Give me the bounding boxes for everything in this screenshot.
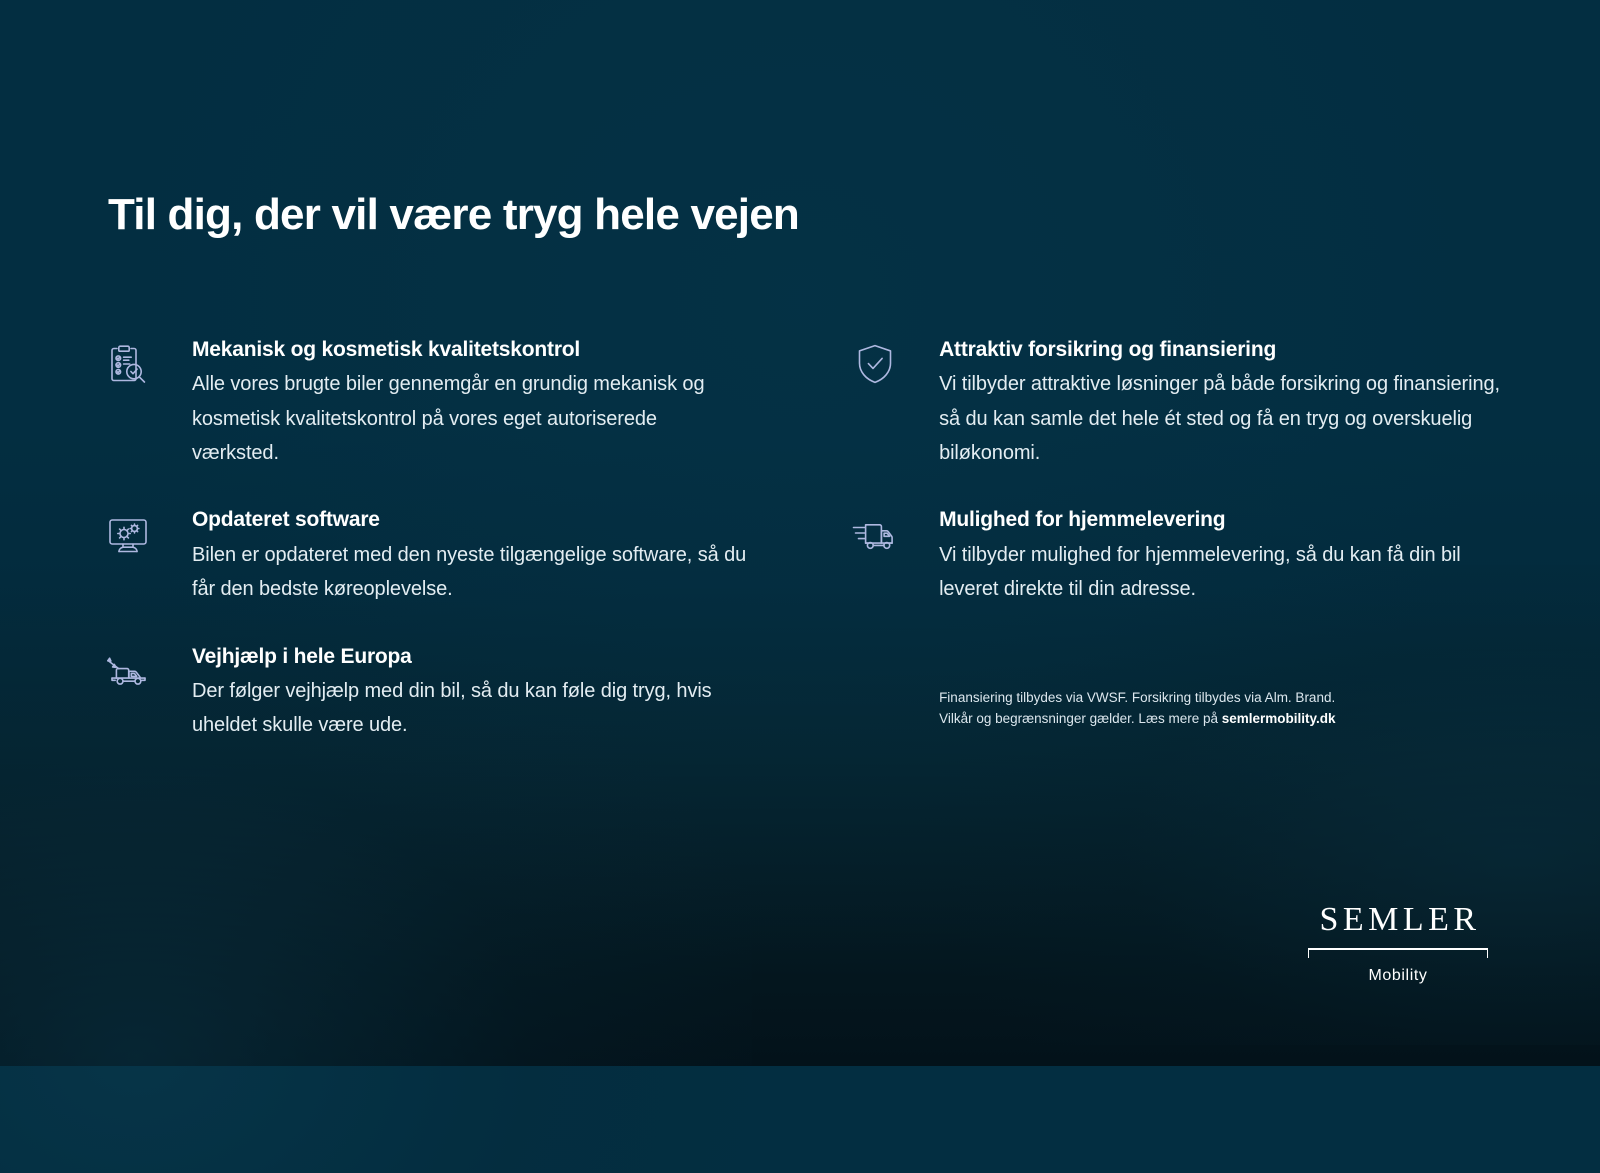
feature-title: Opdateret software	[192, 506, 749, 533]
legal-line-2: Vilkår og begrænsninger gælder. Læs mere…	[939, 708, 1508, 730]
feature-body: Vejhjælp i hele Europa Der følger vejhjæ…	[192, 643, 749, 743]
feature-item-quality-control: Mekanisk og kosmetisk kvalitetskontrol A…	[96, 336, 749, 470]
feature-title: Mekanisk og kosmetisk kvalitetskontrol	[192, 336, 749, 363]
feature-title: Mulighed for hjemmelevering	[939, 506, 1508, 533]
feature-item-software: Opdateret software Bilen er opdateret me…	[96, 506, 749, 606]
logo-wordmark: SEMLER	[1308, 903, 1488, 937]
feature-body: Opdateret software Bilen er opdateret me…	[192, 506, 749, 606]
legal-disclaimer: Finansiering tilbydes via VWSF. Forsikri…	[843, 687, 1508, 731]
feature-item-insurance-financing: Attraktiv forsikring og finansiering Vi …	[843, 336, 1508, 470]
logo-subtitle: Mobility	[1308, 968, 1488, 984]
logo-divider-rule	[1308, 948, 1488, 959]
feature-description: Vi tilbyder mulighed for hjemmelevering,…	[939, 538, 1508, 607]
feature-item-home-delivery: Mulighed for hjemmelevering Vi tilbyder …	[843, 506, 1508, 606]
feature-body: Attraktiv forsikring og finansiering Vi …	[939, 336, 1508, 470]
monitor-gears-icon	[96, 506, 192, 558]
feature-columns: Mekanisk og kosmetisk kvalitetskontrol A…	[96, 336, 1508, 743]
feature-description: Bilen er opdateret med den nyeste tilgæn…	[192, 538, 749, 607]
legal-line-1: Finansiering tilbydes via VWSF. Forsikri…	[939, 687, 1508, 709]
clipboard-checklist-magnifier-icon	[96, 336, 192, 388]
feature-item-roadside-assistance: Vejhjælp i hele Europa Der følger vejhjæ…	[96, 643, 749, 743]
feature-column-left: Mekanisk og kosmetisk kvalitetskontrol A…	[96, 336, 749, 743]
tow-truck-icon	[96, 643, 192, 695]
shield-check-icon	[843, 336, 939, 388]
feature-description: Vi tilbyder attraktive løsninger på både…	[939, 367, 1508, 470]
feature-body: Mulighed for hjemmelevering Vi tilbyder …	[939, 506, 1508, 606]
legal-line-2-prefix: Vilkår og begrænsninger gælder. Læs mere…	[939, 711, 1222, 726]
feature-description: Alle vores brugte biler gennemgår en gru…	[192, 367, 749, 470]
page-title: Til dig, der vil være tryg hele vejen	[108, 190, 799, 239]
semler-mobility-logo: SEMLER Mobility	[1308, 903, 1488, 984]
feature-column-right: Attraktiv forsikring og finansiering Vi …	[843, 336, 1508, 730]
semlermobility-link[interactable]: semlermobility.dk	[1222, 711, 1336, 726]
feature-body: Mekanisk og kosmetisk kvalitetskontrol A…	[192, 336, 749, 470]
promo-panel: Til dig, der vil være tryg hele vejen	[0, 0, 1600, 1066]
feature-description: Der følger vejhjælp med din bil, så du k…	[192, 674, 749, 743]
feature-title: Attraktiv forsikring og finansiering	[939, 336, 1508, 363]
feature-title: Vejhjælp i hele Europa	[192, 643, 749, 670]
delivery-truck-icon	[843, 506, 939, 558]
